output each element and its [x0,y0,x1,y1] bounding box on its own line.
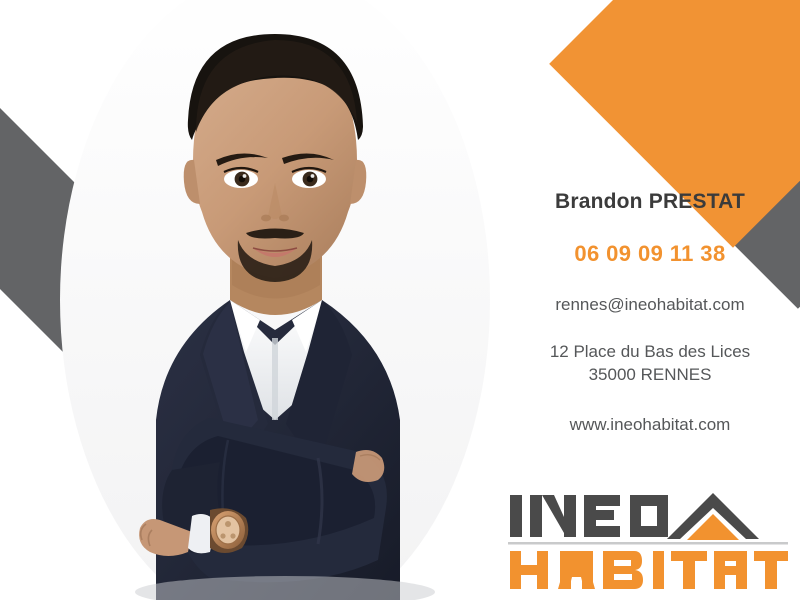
business-card: Brandon PRESTAT 06 09 09 11 38 rennes@in… [0,0,800,600]
address-line-1: 12 Place du Bas des Lices [500,341,800,364]
contact-address: 12 Place du Bas des Lices 35000 RENNES [500,341,800,387]
portrait-photo [60,0,510,600]
contact-info-block: Brandon PRESTAT 06 09 09 11 38 rennes@in… [500,190,800,435]
logo-text-ineo [510,495,668,537]
address-line-2: 35000 RENNES [500,364,800,387]
contact-website[interactable]: www.ineohabitat.com [500,415,800,435]
contact-name: Brandon PRESTAT [500,190,800,214]
logo-graphic [508,487,788,591]
portrait-image [60,0,510,600]
roof-icon [667,493,759,540]
contact-phone[interactable]: 06 09 09 11 38 [500,241,800,267]
watch [210,508,248,553]
contact-email[interactable]: rennes@ineohabitat.com [500,295,800,315]
logo-divider [508,542,788,545]
company-logo[interactable] [508,487,788,591]
logo-text-habitat [510,551,788,589]
